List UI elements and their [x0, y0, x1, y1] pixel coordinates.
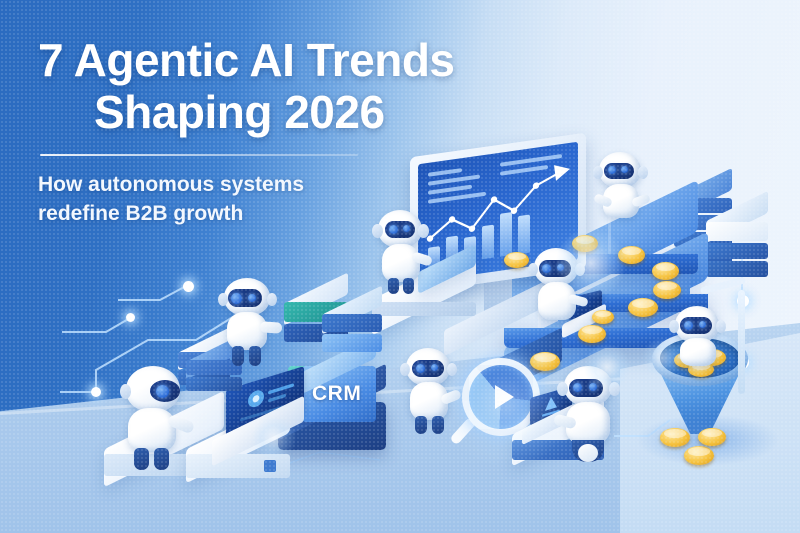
robot-worker [592, 152, 652, 230]
robot-leg [232, 346, 244, 366]
robot-ear [218, 293, 228, 306]
robot-eye [684, 321, 693, 330]
coin [698, 428, 726, 446]
robot-ear [716, 320, 726, 333]
robot-body [128, 408, 176, 452]
coin [653, 281, 681, 299]
robot-body [680, 338, 716, 366]
page-title: 7 Agentic AI Trends Shaping 2026 [38, 34, 508, 138]
robot-body [382, 244, 420, 282]
robot-leg [403, 278, 414, 294]
robot-ear [575, 263, 585, 276]
data-box [322, 314, 382, 332]
robot-ear [609, 382, 620, 396]
robot-eye [557, 264, 564, 271]
network-node [126, 313, 135, 322]
funnel-arm-bracket [700, 282, 750, 302]
robot-ear [638, 166, 648, 179]
robot-eye [573, 383, 582, 392]
data-box-stack [276, 286, 386, 366]
robot-leg [415, 416, 427, 434]
robot-leg [432, 416, 444, 434]
robot-arm [260, 321, 283, 334]
coin [530, 352, 560, 371]
page-subtitle: How autonomous systems redefine B2B grow… [38, 170, 368, 228]
robot-leg [154, 448, 169, 470]
poster-header: 7 Agentic AI Trends Shaping 2026 How aut… [38, 34, 508, 228]
funnel-support-pole [734, 290, 750, 400]
robot-ear [557, 382, 568, 396]
robot-ear [267, 293, 277, 306]
coin [592, 310, 614, 324]
robot-eye [621, 166, 628, 173]
robot-worker [116, 366, 194, 470]
platform-side [372, 302, 476, 316]
robot-eye [416, 364, 425, 373]
coin [504, 252, 529, 268]
robot-worker [398, 348, 460, 436]
robot-ear [528, 263, 538, 276]
robot-leg [134, 448, 149, 470]
coin [652, 262, 679, 280]
title-line-2: Shaping 2026 [38, 86, 508, 138]
robot-eye [699, 321, 706, 328]
poster-canvas: CRM [0, 0, 800, 533]
coin [618, 246, 645, 264]
robot-ear [400, 363, 410, 376]
title-divider [40, 154, 358, 156]
play-icon[interactable] [495, 385, 514, 409]
robot-ear [593, 166, 603, 179]
robot-leg [388, 278, 399, 294]
coin [628, 298, 658, 317]
data-box [322, 334, 382, 352]
robot-eye [231, 293, 242, 304]
coin [660, 428, 690, 447]
robot-worker [216, 278, 278, 368]
title-line-1: 7 Agentic AI Trends [38, 34, 455, 86]
robot-eye [608, 166, 616, 174]
robot-worker [668, 306, 728, 376]
robot-leg [249, 346, 261, 366]
robot-eye [431, 364, 438, 371]
robot-worker [526, 248, 588, 332]
desk-port [264, 460, 276, 472]
robot-ear [669, 320, 679, 333]
robot-base-wheel [578, 444, 598, 462]
robot-ear [447, 363, 457, 376]
coin [578, 325, 606, 343]
coin [684, 446, 714, 465]
robot-ear [120, 384, 131, 399]
robot-worker [556, 366, 622, 462]
network-node [183, 281, 194, 292]
robot-eye [156, 385, 169, 398]
robot-eye [589, 383, 597, 391]
robot-eye [248, 294, 256, 302]
network-node [91, 387, 101, 397]
server-unit [186, 377, 242, 391]
coin [572, 235, 598, 252]
robot-eye [542, 264, 551, 273]
